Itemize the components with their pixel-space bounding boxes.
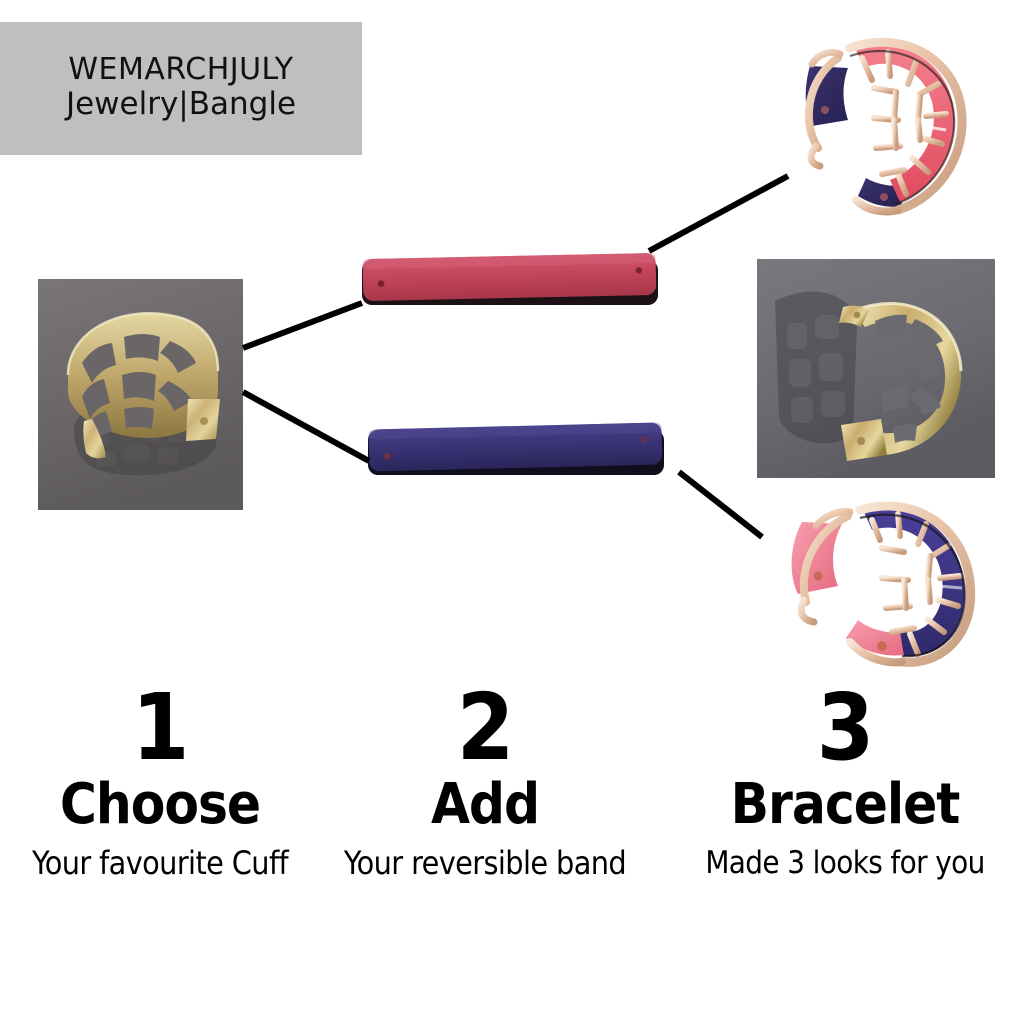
bracelet-gold-pink bbox=[770, 14, 1000, 226]
blue-band-illustration bbox=[366, 418, 666, 480]
step-3-number: 3 bbox=[672, 686, 1018, 771]
bracelet-gold-bare bbox=[757, 259, 995, 478]
gold-lattice-cuff-photo bbox=[38, 279, 243, 510]
step-3-title: Bracelet bbox=[672, 777, 1018, 833]
connector-pink-band-to-result bbox=[649, 176, 788, 251]
pink-band-illustration bbox=[360, 248, 660, 310]
step-1-number: 1 bbox=[0, 686, 325, 771]
infographic-canvas: WEMARCHJULY Jewelry|Bangle bbox=[0, 0, 1018, 1018]
brand-plate: WEMARCHJULY Jewelry|Bangle bbox=[0, 22, 362, 155]
step-1-title: Choose bbox=[0, 777, 325, 833]
brand-name: WEMARCHJULY bbox=[68, 54, 293, 86]
connector-cuff-to-pink-band bbox=[243, 303, 362, 348]
pink-inner-band bbox=[792, 522, 842, 594]
bare-cuff-illustration bbox=[757, 259, 995, 478]
reversible-band-blue bbox=[366, 418, 666, 480]
step-2-number: 2 bbox=[320, 686, 650, 771]
bracelet-gold-pink-illustration bbox=[770, 14, 1000, 226]
bracelet-gold-blue-illustration bbox=[768, 490, 1000, 670]
reversible-band-pink bbox=[360, 248, 660, 310]
bracelet-gold-blue bbox=[768, 490, 1000, 670]
steps-row: 1 Choose Your favourite Cuff 2 Add Your … bbox=[0, 686, 1018, 926]
connector-blue-band-to-result bbox=[679, 472, 762, 537]
step-2: 2 Add Your reversible band bbox=[320, 686, 650, 880]
step-3-subtitle: Made 3 looks for you bbox=[672, 847, 1018, 880]
step-2-subtitle: Your reversible band bbox=[320, 847, 650, 881]
connector-cuff-to-blue-band bbox=[243, 392, 369, 461]
step-3: 3 Bracelet Made 3 looks for you bbox=[672, 686, 1018, 879]
brand-tagline: Jewelry|Bangle bbox=[66, 87, 296, 123]
step-1: 1 Choose Your favourite Cuff bbox=[0, 686, 325, 880]
step-1-subtitle: Your favourite Cuff bbox=[0, 847, 325, 881]
cuff-illustration bbox=[38, 279, 243, 510]
step-2-title: Add bbox=[320, 777, 650, 833]
